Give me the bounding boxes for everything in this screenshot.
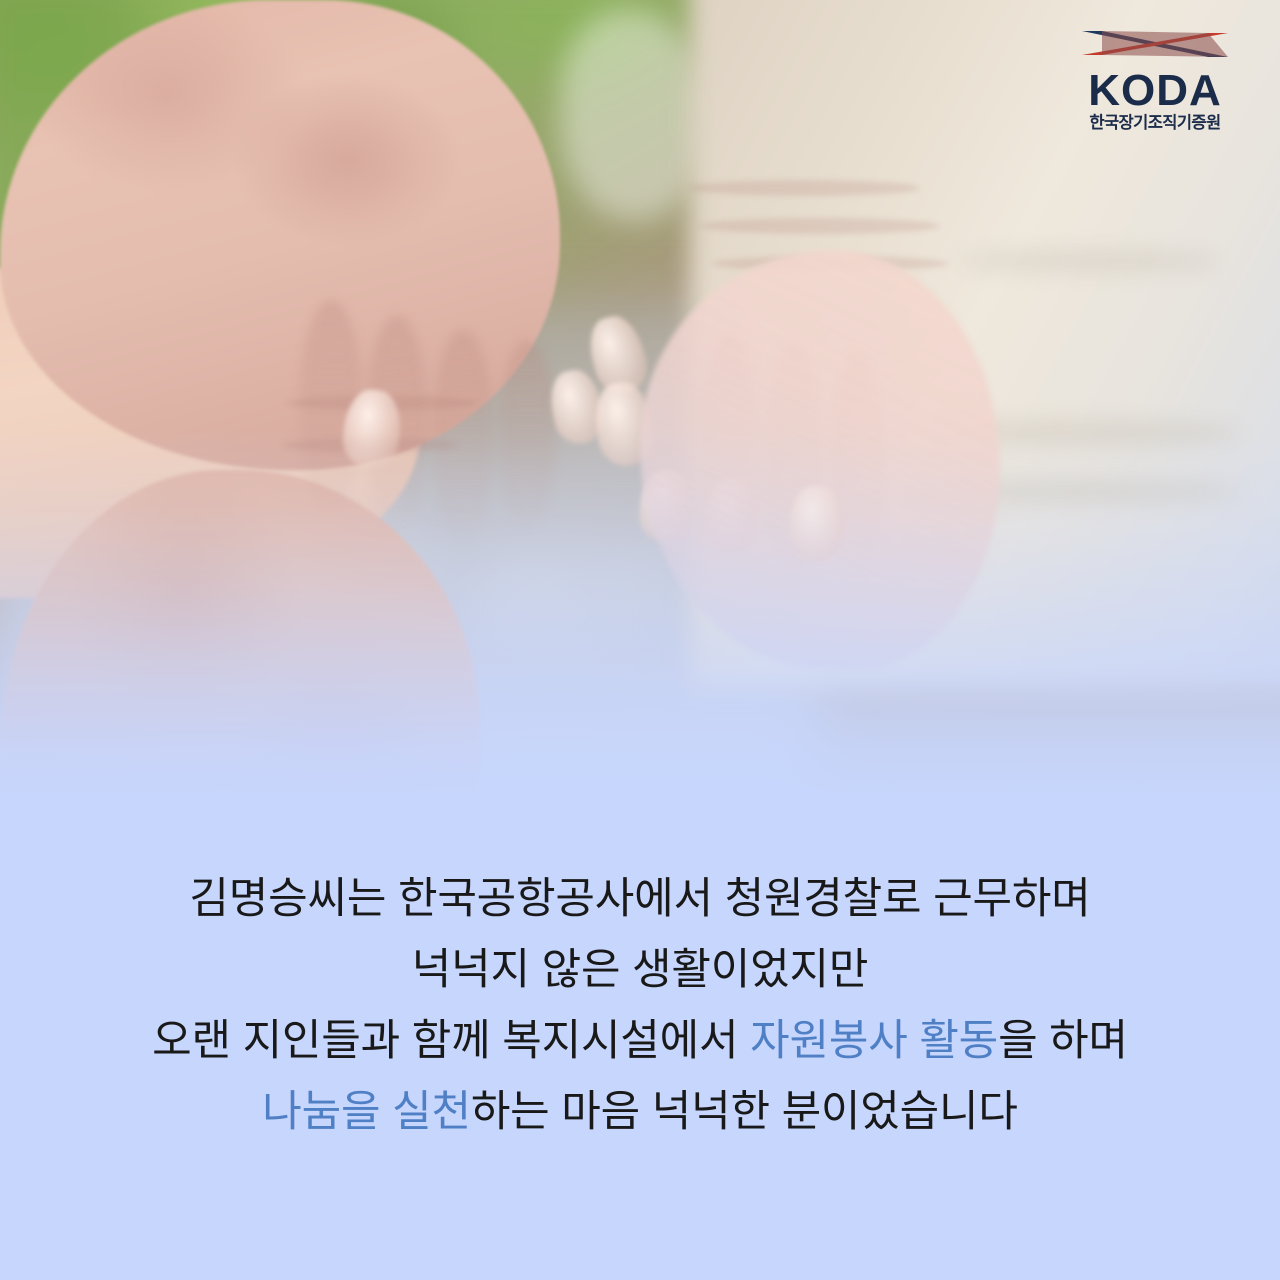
caption-segment: 하는 마음 넉넉한 분이었습니다: [471, 1088, 1018, 1136]
koda-story-card: KODA 한국장기조직기증원 김명승씨는 한국공항공사에서 청원경찰로 근무하며…: [0, 0, 1280, 1280]
koda-wordmark: KODA: [1072, 70, 1238, 112]
caption-line-4: 나눔을 실천하는 마음 넉넉한 분이었습니다: [0, 1077, 1280, 1148]
skin-wrinkle: [690, 180, 920, 196]
caption-segment: 을 하며: [998, 1017, 1128, 1065]
caption-text-block: 김명승씨는 한국공항공사에서 청원경찰로 근무하며 넉넉지 않은 생활이었지만 …: [0, 864, 1280, 1148]
koda-subtitle: 한국장기조직기증원: [1072, 113, 1238, 133]
caption-segment: 김명승씨는 한국공항공사에서 청원경찰로 근무하며: [189, 875, 1090, 923]
caption-line-3: 오랜 지인들과 함께 복지시설에서 자원봉사 활동을 하며: [0, 1006, 1280, 1077]
caption-panel: 김명승씨는 한국공항공사에서 청원경찰로 근무하며 넉넉지 않은 생활이었지만 …: [0, 792, 1280, 1280]
caption-segment: 오랜 지인들과 함께 복지시설에서: [152, 1017, 750, 1065]
cloth-fold: [960, 250, 1220, 272]
caption-segment-highlight: 나눔을 실천: [262, 1088, 471, 1136]
koda-logo: KODA 한국장기조직기증원: [1072, 22, 1238, 133]
caption-segment: 넉넉지 않은 생활이었지만: [412, 946, 868, 994]
finger-shading: [432, 330, 494, 540]
fingernail: [790, 486, 844, 562]
koda-ribbon-mark: [1072, 22, 1238, 68]
caption-line-1: 김명승씨는 한국공항공사에서 청원경찰로 근무하며: [0, 864, 1280, 935]
caption-segment-highlight: 자원봉사 활동: [750, 1017, 998, 1065]
caption-line-2: 넉넉지 않은 생활이었지만: [0, 935, 1280, 1006]
finger-shading: [498, 340, 556, 530]
skin-wrinkle: [700, 218, 940, 234]
